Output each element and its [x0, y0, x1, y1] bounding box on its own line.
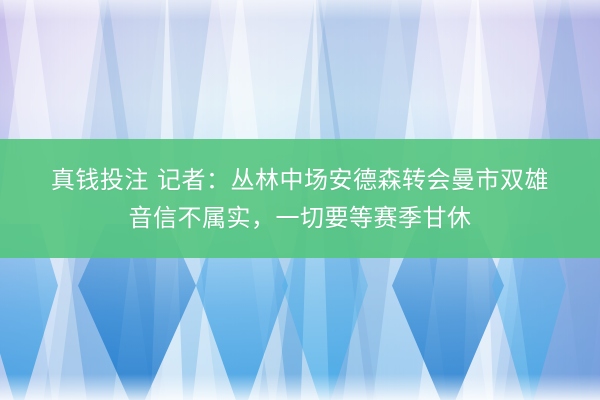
caption-line-2: 音信不属实，一切要等赛季甘休	[129, 199, 472, 237]
caption-band: 真钱投注 记者：丛林中场安德森转会曼市双雄 音信不属实，一切要等赛季甘休	[0, 139, 600, 258]
banner-image: 真钱投注 记者：丛林中场安德森转会曼市双雄 音信不属实，一切要等赛季甘休	[0, 0, 600, 400]
caption-line-1: 真钱投注 记者：丛林中场安德森转会曼市双雄	[51, 161, 549, 199]
